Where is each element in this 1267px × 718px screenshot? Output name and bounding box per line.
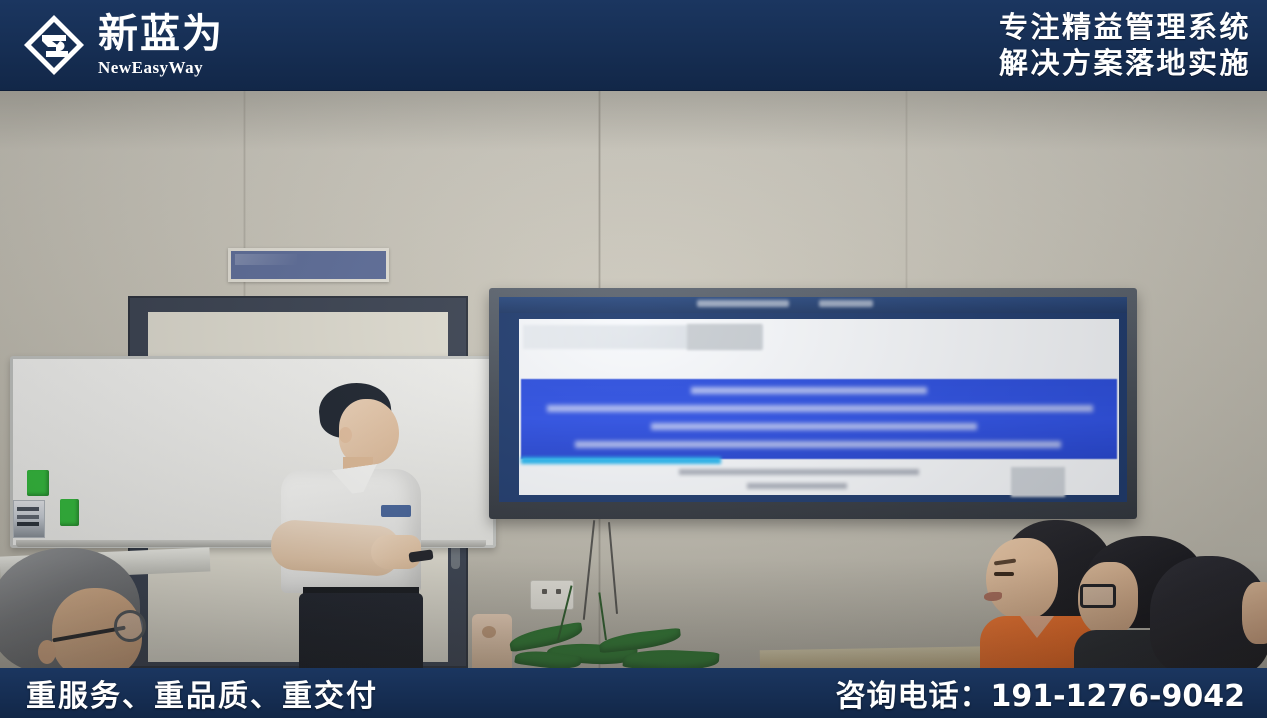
highlighted-text-block [521, 379, 1117, 459]
brand-lockup: 新蓝为 NewEasyWay [0, 13, 224, 77]
tv-menu-text [697, 300, 789, 307]
contact-label: 咨询电话： [835, 679, 990, 714]
newEasyWay-diamond-logo-icon [22, 13, 86, 77]
tv-screen [499, 297, 1127, 502]
cyan-underline [521, 457, 721, 464]
whiteboard-poster [13, 500, 45, 538]
company-name-cn: 新蓝为 [98, 14, 224, 54]
company-name-en: NewEasyWay [98, 59, 224, 76]
document-cell [687, 324, 762, 350]
presenter-ear [339, 427, 352, 443]
slide-document [519, 319, 1119, 495]
wall-panel-seam [905, 90, 908, 310]
tv-menu-bar [499, 297, 1127, 313]
shirt-logo [381, 505, 411, 517]
service-promise-text: 重服务、重品质、重交付 [0, 671, 378, 715]
training-photo [0, 0, 1267, 718]
bottom-banner: 重服务、重品质、重交付 咨询电话：191-1276-9042 [0, 668, 1267, 718]
top-banner: 新蓝为 NewEasyWay 专注精益管理系统 解决方案落地实施 [0, 0, 1267, 91]
green-magnet [60, 499, 79, 526]
tv-menu-text [819, 300, 873, 307]
document-footer-line [747, 483, 847, 489]
wall-mounted-television [489, 288, 1137, 519]
green-magnet [27, 470, 49, 496]
screenshot-root: 新蓝为 NewEasyWay 专注精益管理系统 解决方案落地实施 重服务、重品质… [0, 0, 1267, 718]
brand-text: 新蓝为 NewEasyWay [98, 14, 224, 76]
sign-glare [235, 254, 297, 265]
wall-shadow [0, 90, 1267, 150]
slogan-block: 专注精益管理系统 解决方案落地实施 [999, 10, 1267, 80]
slogan-line-1: 专注精益管理系统 [999, 10, 1251, 44]
document-footer-line [679, 469, 919, 475]
blue-wall-sign [228, 248, 389, 282]
contact-block: 咨询电话：191-1276-9042 [835, 671, 1267, 715]
slogan-line-2: 解决方案落地实施 [999, 46, 1251, 80]
document-button [1011, 467, 1065, 497]
contact-phone-number[interactable]: 191-1276-9042 [990, 679, 1245, 714]
